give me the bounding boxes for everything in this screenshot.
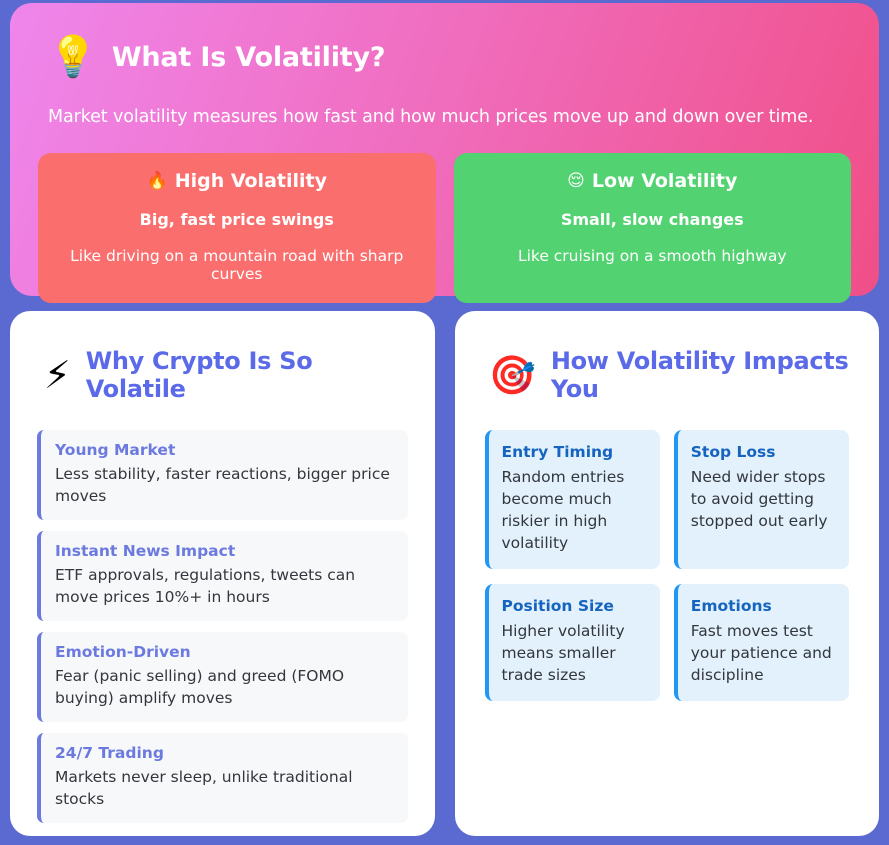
low-volatility-description: Like cruising on a smooth highway: [470, 247, 836, 265]
high-volatility-card: 🔥 High Volatility Big, fast price swings…: [38, 153, 436, 303]
reason-text: Fear (panic selling) and greed (FOMO buy…: [55, 665, 394, 709]
reason-title: Emotion-Driven: [55, 643, 394, 661]
list-item: Instant News Impact ETF approvals, regul…: [37, 531, 408, 621]
reason-list: Young Market Less stability, faster reac…: [32, 430, 413, 823]
list-item: Emotions Fast moves test your patience a…: [674, 584, 849, 701]
list-item: Position Size Higher volatility means sm…: [485, 584, 660, 701]
reason-title: Instant News Impact: [55, 542, 394, 560]
list-item: Stop Loss Need wider stops to avoid gett…: [674, 430, 849, 569]
list-item: Emotion-Driven Fear (panic selling) and …: [37, 632, 408, 722]
list-item: Entry Timing Random entries become much …: [485, 430, 660, 569]
lightbulb-icon: 💡: [48, 37, 98, 77]
panels-row: ⚡ Why Crypto Is So Volatile Young Market…: [10, 311, 879, 836]
impact-text: Higher volatility means smaller trade si…: [502, 620, 647, 686]
high-volatility-summary: Big, fast price swings: [54, 210, 420, 229]
impact-text: Fast moves test your patience and discip…: [691, 620, 836, 686]
lightning-bolt-icon: ⚡: [44, 356, 71, 394]
low-volatility-summary: Small, slow changes: [470, 210, 836, 229]
reason-text: ETF approvals, regulations, tweets can m…: [55, 564, 394, 608]
impact-title: Stop Loss: [691, 443, 836, 461]
hero-subtitle: Market volatility measures how fast and …: [48, 107, 851, 127]
hero-header: 💡 What Is Volatility?: [48, 37, 851, 77]
reason-title: Young Market: [55, 441, 394, 459]
high-volatility-title-row: 🔥 High Volatility: [54, 170, 420, 192]
left-panel-title: Why Crypto Is So Volatile: [86, 347, 413, 404]
impact-text: Need wider stops to avoid getting stoppe…: [691, 466, 836, 532]
volatility-comparison-grid: 🔥 High Volatility Big, fast price swings…: [38, 153, 851, 303]
low-volatility-title-row: 😌 Low Volatility: [470, 170, 836, 192]
impact-title: Entry Timing: [502, 443, 647, 461]
reason-text: Less stability, faster reactions, bigger…: [55, 463, 394, 507]
volatility-impacts-panel: 🎯 How Volatility Impacts You Entry Timin…: [455, 311, 880, 836]
high-volatility-title: High Volatility: [175, 170, 327, 192]
reason-text: Markets never sleep, unlike traditional …: [55, 766, 394, 810]
list-item: 24/7 Trading Markets never sleep, unlike…: [37, 733, 408, 823]
relieved-face-icon: 😌: [567, 173, 585, 190]
impact-text: Random entries become much riskier in hi…: [502, 466, 647, 554]
high-volatility-description: Like driving on a mountain road with sha…: [54, 247, 420, 283]
page-title: What Is Volatility?: [112, 42, 386, 73]
hero-card: 💡 What Is Volatility? Market volatility …: [10, 3, 879, 296]
impact-grid: Entry Timing Random entries become much …: [477, 430, 858, 701]
right-panel-header: 🎯 How Volatility Impacts You: [489, 347, 858, 404]
fire-icon: 🔥: [147, 173, 168, 190]
low-volatility-card: 😌 Low Volatility Small, slow changes Lik…: [454, 153, 852, 303]
low-volatility-title: Low Volatility: [592, 170, 737, 192]
list-item: Young Market Less stability, faster reac…: [37, 430, 408, 520]
why-crypto-volatile-panel: ⚡ Why Crypto Is So Volatile Young Market…: [10, 311, 435, 836]
target-icon: 🎯: [489, 356, 536, 394]
impact-title: Position Size: [502, 597, 647, 615]
left-panel-header: ⚡ Why Crypto Is So Volatile: [44, 347, 413, 404]
reason-title: 24/7 Trading: [55, 744, 394, 762]
impact-title: Emotions: [691, 597, 836, 615]
volatility-infographic-page: 💡 What Is Volatility? Market volatility …: [0, 0, 889, 845]
right-panel-title: How Volatility Impacts You: [551, 347, 857, 404]
